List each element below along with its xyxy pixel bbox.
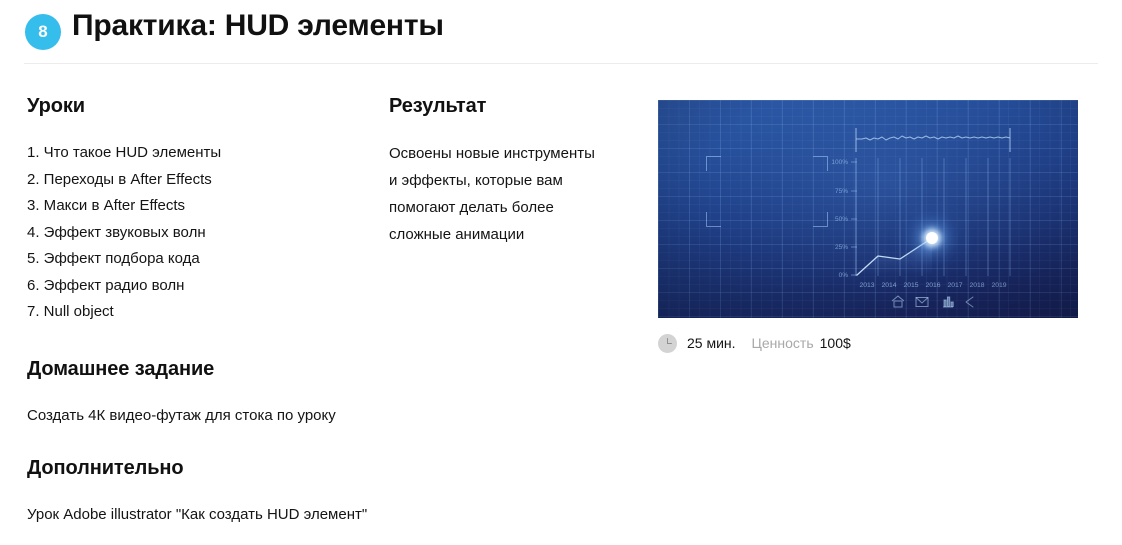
hud-vignette xyxy=(658,100,1078,318)
list-item[interactable]: 2. Переходы в After Effects xyxy=(27,167,357,194)
list-item[interactable]: 7. Null object xyxy=(27,299,357,326)
homework-section: Домашнее задание Создать 4К видео-футаж … xyxy=(27,358,547,429)
result-line: помогают делать более xyxy=(389,194,639,221)
header-divider xyxy=(24,63,1098,64)
extra-heading: Дополнительно xyxy=(27,457,547,480)
list-item[interactable]: 6. Эффект радио волн xyxy=(27,273,357,300)
list-item[interactable]: 3. Макси в After Effects xyxy=(27,193,357,220)
list-item[interactable]: 1. Что такое HUD элементы xyxy=(27,140,357,167)
result-section: Результат Освоены новые инструменты и эф… xyxy=(389,95,639,248)
result-line: и эффекты, которые вам xyxy=(389,167,639,194)
value-label: Ценность xyxy=(752,335,814,351)
lessons-heading: Уроки xyxy=(27,95,357,118)
list-item[interactable]: 5. Эффект подбора кода xyxy=(27,246,357,273)
hud-chart-thumbnail[interactable]: 100% 75% 50% 25% 0% 2013 2014 2015 2016 … xyxy=(658,100,1078,318)
chart-glow-marker xyxy=(926,232,938,244)
lessons-section: Уроки 1. Что такое HUD элементы 2. Перех… xyxy=(27,95,357,326)
homework-heading: Домашнее задание xyxy=(27,358,547,381)
clock-icon xyxy=(658,334,677,353)
homework-body: Создать 4К видео-футаж для стока по урок… xyxy=(27,403,547,429)
value-amount: 100$ xyxy=(820,335,851,351)
result-text: Освоены новые инструменты и эффекты, кот… xyxy=(389,140,639,248)
result-line: сложные анимации xyxy=(389,221,639,248)
list-item[interactable]: 4. Эффект звуковых волн xyxy=(27,220,357,247)
extra-body: Урок Adobe illustrator "Как создать HUD … xyxy=(27,502,547,528)
page-title: Практика: HUD элементы xyxy=(72,9,444,43)
duration-text: 25 мин. xyxy=(687,335,736,351)
page-header: 8 Практика: HUD элементы xyxy=(0,0,1122,68)
result-line: Освоены новые инструменты xyxy=(389,140,639,167)
lessons-list: 1. Что такое HUD элементы 2. Переходы в … xyxy=(27,140,357,326)
extra-section: Дополнительно Урок Adobe illustrator "Ка… xyxy=(27,457,547,528)
lesson-number-badge: 8 xyxy=(25,14,61,50)
result-preview: 100% 75% 50% 25% 0% 2013 2014 2015 2016 … xyxy=(658,100,1078,318)
result-heading: Результат xyxy=(389,95,639,118)
video-meta-row: 25 мин. Ценность 100$ xyxy=(658,330,851,356)
